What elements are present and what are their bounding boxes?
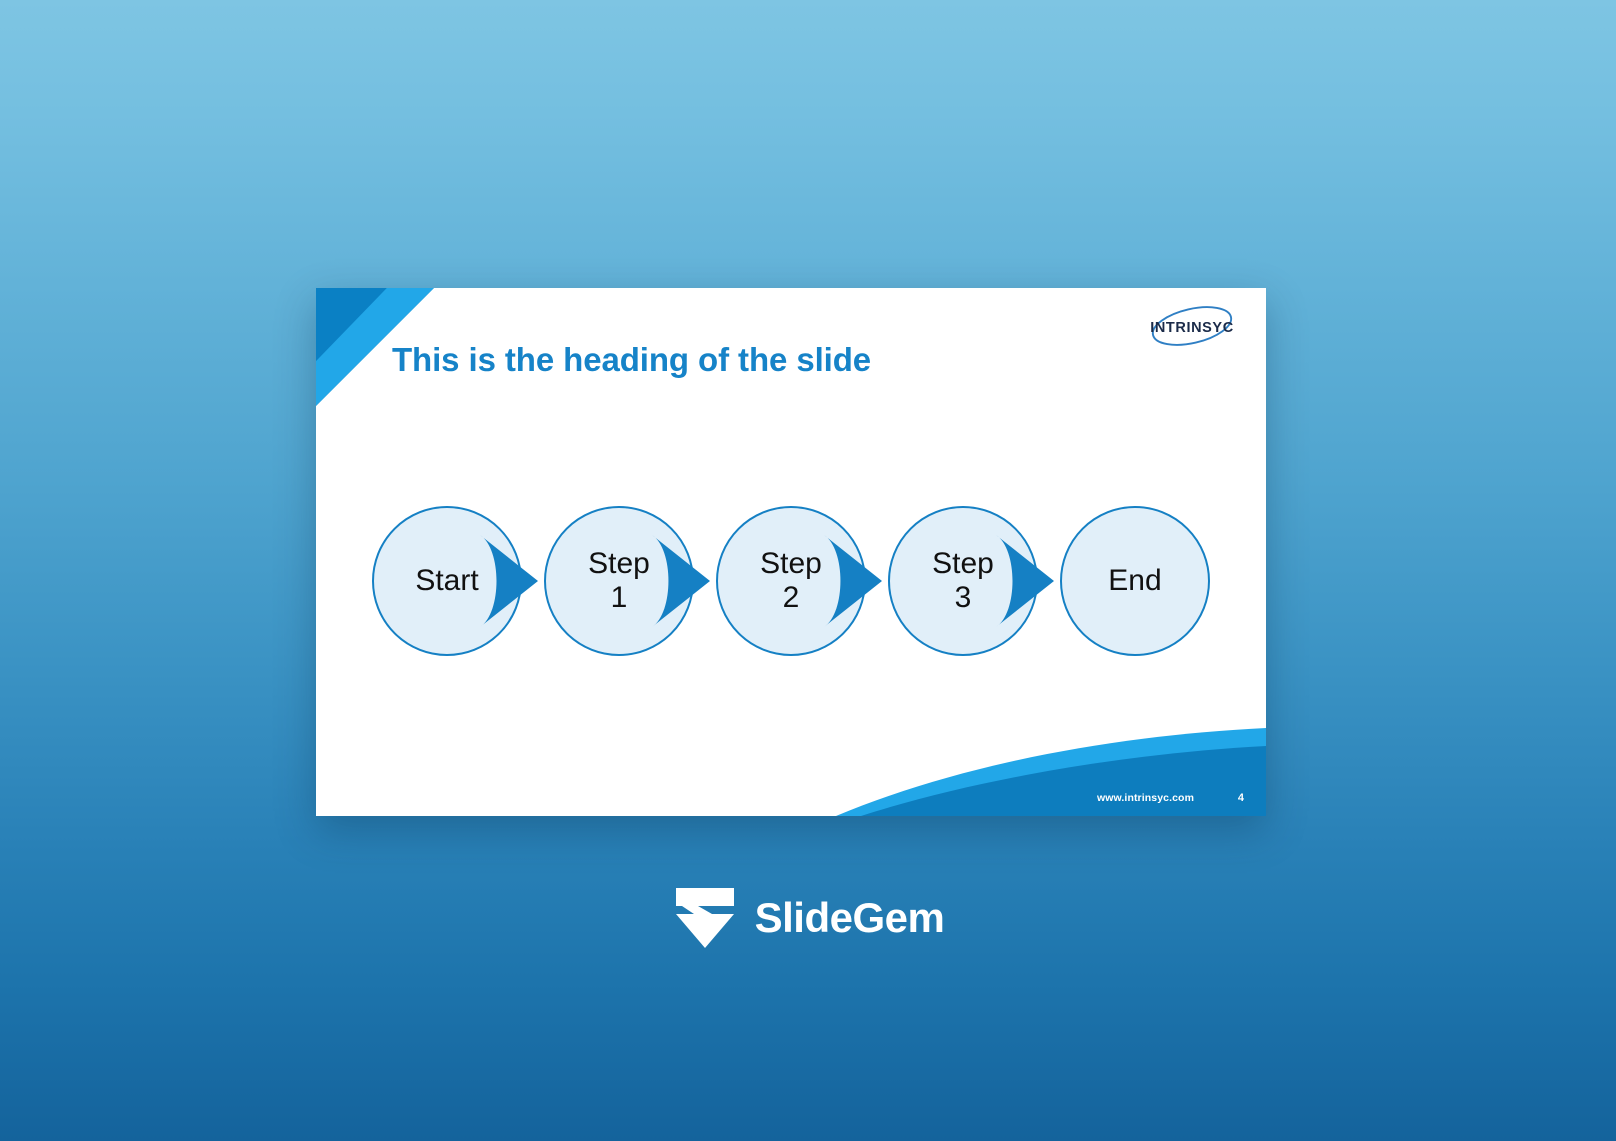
slidegem-wordmark: SlideGem <box>755 894 945 942</box>
flow-node-label: End <box>1060 506 1210 656</box>
flow-node-label: Step 2 <box>716 506 866 656</box>
flow-node-label: Start <box>372 506 522 656</box>
slidegem-branding: SlideGem <box>0 884 1616 952</box>
flow-node-end[interactable]: End <box>1060 506 1210 656</box>
flow-node-step-2[interactable]: Step 2 <box>716 506 866 656</box>
footer-page-number: 4 <box>1238 792 1244 804</box>
intrinsyc-logo: INTRINSYC <box>1136 300 1248 352</box>
process-flow-diagram: Start Step 1 S <box>372 506 1210 656</box>
flow-node-label: Step 3 <box>888 506 1038 656</box>
flow-node-label-line2: 3 <box>955 581 972 615</box>
flow-node-label-line1: Step <box>760 547 822 581</box>
flow-node-label-line1: Step <box>932 547 994 581</box>
slidegem-gem-icon <box>672 884 738 952</box>
flow-node-label: Step 1 <box>544 506 694 656</box>
slide-container: This is the heading of the slide INTRINS… <box>316 288 1266 816</box>
flow-node-label-line1: Start <box>415 564 478 598</box>
flow-node-step-1[interactable]: Step 1 <box>544 506 694 656</box>
flow-node-label-line1: End <box>1108 564 1161 598</box>
footer-website-url[interactable]: www.intrinsyc.com <box>1097 792 1194 804</box>
flow-node-label-line2: 1 <box>611 581 628 615</box>
intrinsyc-logo-text: INTRINSYC <box>1136 320 1248 336</box>
flow-node-label-line2: 2 <box>783 581 800 615</box>
flow-node-step-3[interactable]: Step 3 <box>888 506 1038 656</box>
page-title: This is the heading of the slide <box>392 341 871 379</box>
flow-node-start[interactable]: Start <box>372 506 522 656</box>
flow-node-label-line1: Step <box>588 547 650 581</box>
presentation-slide: This is the heading of the slide INTRINS… <box>316 288 1266 816</box>
